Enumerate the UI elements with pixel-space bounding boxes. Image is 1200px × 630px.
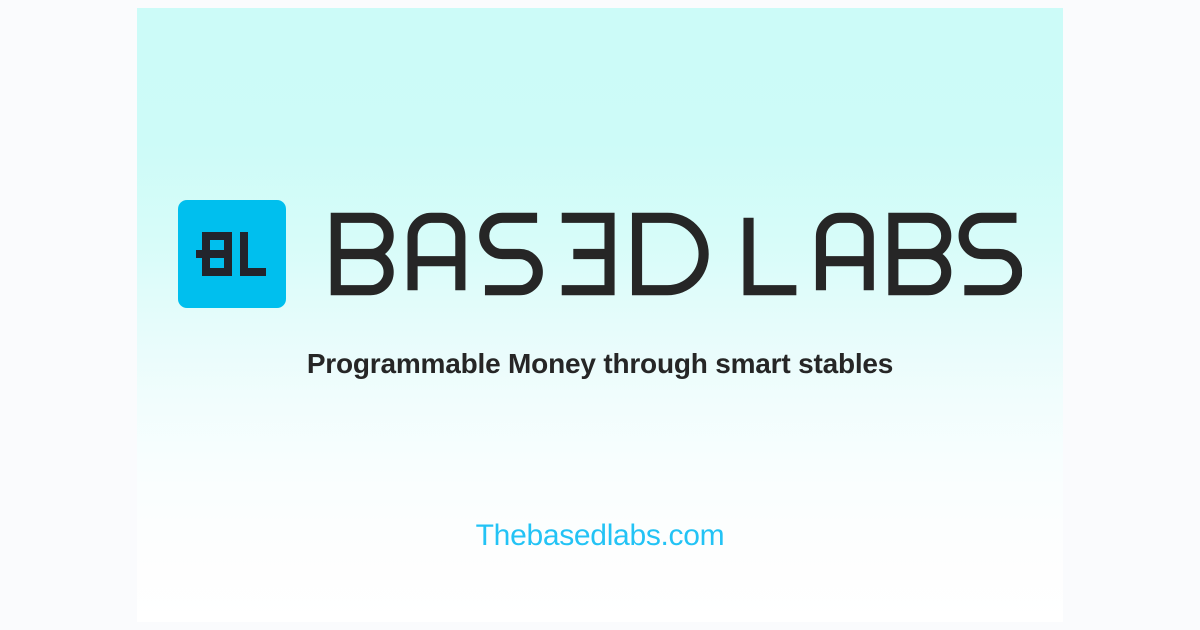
brand-lockup xyxy=(137,200,1063,308)
site-url[interactable]: Thebasedlabs.com xyxy=(137,516,1063,556)
based-labs-bl-monogram-icon xyxy=(178,200,286,308)
wordmark-based-labs xyxy=(330,212,1022,296)
tagline: Programmable Money through smart stables xyxy=(137,344,1063,384)
og-preview-card: Programmable Money through smart stables… xyxy=(137,8,1063,622)
